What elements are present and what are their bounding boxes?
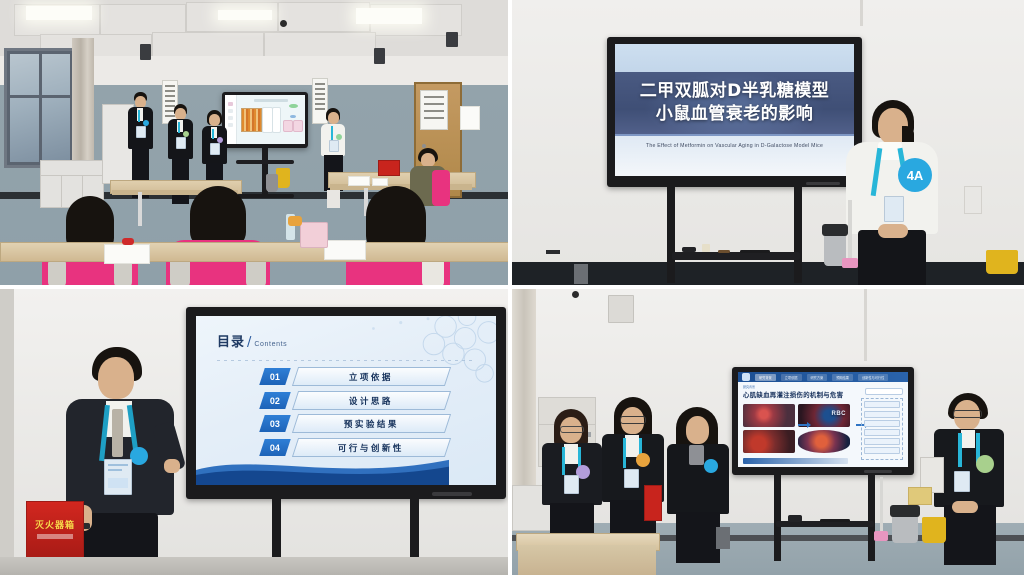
round-badge bbox=[130, 447, 148, 465]
slide-title-area: 二甲双胍对D半乳糖模型 小鼠血管衰老的影响 bbox=[615, 72, 854, 134]
ceiling-light bbox=[26, 6, 92, 20]
contents-item[interactable]: 03 预实验结果 bbox=[262, 415, 448, 432]
slide-top-band bbox=[615, 44, 854, 72]
collage-panel-top-right: 二甲双胍对D半乳糖模型 小鼠血管衰老的影响 The Effect of Metf… bbox=[512, 0, 1024, 285]
contents-divider bbox=[217, 360, 475, 361]
figure-label-rbc: RBC bbox=[832, 411, 847, 417]
slide-tab[interactable]: 立项依据 bbox=[781, 374, 802, 381]
trash-bag bbox=[822, 224, 848, 236]
group-presentation-scene: 研究背景 立项依据 研究方案 预期结果 创新性与可行性 研究背景 心肌缺血再灌注… bbox=[512, 289, 1024, 575]
mechanism-flow-chart bbox=[861, 398, 903, 459]
display-controls[interactable] bbox=[806, 182, 840, 185]
display-stand-shelf bbox=[672, 252, 800, 260]
stylus-pen[interactable] bbox=[740, 250, 770, 253]
presenter-scene-title: 二甲双胍对D半乳糖模型 小鼠血管衰老的影响 The Effect of Metf… bbox=[512, 0, 1024, 285]
student-presenter bbox=[540, 409, 604, 541]
round-badge bbox=[704, 459, 718, 473]
presenter-standing bbox=[318, 108, 348, 212]
wall-speaker bbox=[446, 32, 458, 47]
floor-strip bbox=[0, 557, 508, 575]
storage-box bbox=[908, 487, 932, 505]
slide-subtitle-en: The Effect of Metformin on Vascular Agin… bbox=[646, 143, 823, 149]
marker-pen[interactable] bbox=[718, 250, 730, 253]
flow-step bbox=[864, 429, 900, 436]
slide-tab[interactable]: 预期结果 bbox=[832, 374, 853, 381]
wall-poster bbox=[420, 90, 448, 130]
slide-tab[interactable]: 研究背景 bbox=[755, 374, 776, 381]
slide-tab[interactable]: 创新性与可行性 bbox=[858, 374, 888, 381]
window bbox=[4, 48, 76, 168]
bar-figure bbox=[272, 107, 281, 134]
floor-cable bbox=[546, 250, 560, 254]
slide-bottom-band: The Effect of Metformin on Vascular Agin… bbox=[615, 136, 854, 176]
interactive-display-wide[interactable] bbox=[222, 92, 308, 148]
slide-search-field[interactable] bbox=[865, 388, 903, 395]
hands-clasped bbox=[952, 501, 978, 513]
hands-clasped bbox=[878, 224, 908, 238]
presenter-title-slide: 4A bbox=[844, 100, 940, 285]
collage-panel-bottom-right: 研究背景 立项依据 研究方案 预期结果 创新性与可行性 研究背景 心肌缺血再灌注… bbox=[512, 289, 1024, 575]
interactive-display-contents[interactable]: 目录 / Contents 01 立项依据 02 bbox=[186, 307, 506, 499]
wall-socket bbox=[964, 186, 982, 214]
bar-figure bbox=[262, 107, 273, 134]
mop-handle bbox=[880, 477, 883, 535]
contents-heading-cn: 目录 bbox=[217, 331, 245, 350]
display-stand-post bbox=[774, 475, 781, 561]
flow-step bbox=[864, 420, 900, 427]
dashboard-slide bbox=[225, 95, 305, 144]
slide-footer-bar bbox=[743, 458, 848, 464]
node-green bbox=[289, 104, 298, 108]
flow-step bbox=[864, 438, 900, 445]
mop-head bbox=[874, 531, 888, 541]
foreground-table-top bbox=[518, 545, 656, 575]
slide-navigation-bar: 研究背景 立项依据 研究方案 预期结果 创新性与可行性 bbox=[738, 372, 908, 382]
slide-main-area bbox=[237, 95, 305, 144]
wall-speaker bbox=[608, 295, 634, 323]
contents-item-number: 01 bbox=[259, 368, 291, 385]
fruit bbox=[288, 216, 302, 226]
title-slide: 二甲双胍对D半乳糖模型 小鼠血管衰老的影响 The Effect of Metf… bbox=[615, 44, 854, 176]
judge-papers bbox=[348, 176, 370, 186]
fire-equipment-box bbox=[378, 160, 400, 176]
collage-panel-top-left bbox=[0, 0, 508, 285]
node-pink bbox=[283, 120, 292, 132]
flow-step bbox=[864, 447, 900, 454]
necktie bbox=[112, 409, 123, 457]
camera-on-shelf bbox=[788, 515, 802, 522]
tape-roll bbox=[702, 244, 710, 252]
wall-speaker bbox=[140, 44, 151, 60]
display-stand-post bbox=[794, 187, 802, 283]
trash-bag bbox=[890, 505, 920, 517]
waste-bin-yellow bbox=[922, 517, 946, 543]
flow-step bbox=[864, 401, 900, 408]
fire-extinguisher-box: 灭火器箱 bbox=[26, 501, 84, 559]
wall-skirting bbox=[512, 262, 1024, 285]
ceiling-pipe bbox=[860, 0, 863, 26]
wall-speaker bbox=[374, 48, 385, 64]
contents-item[interactable]: 01 立项依据 bbox=[262, 368, 448, 385]
content-slide: 研究背景 立项依据 研究方案 预期结果 创新性与可行性 研究背景 心肌缺血再灌注… bbox=[738, 372, 908, 467]
heatmap-figure bbox=[241, 108, 261, 133]
display-controls[interactable] bbox=[864, 470, 892, 473]
slide-title-line-2: 小鼠血管衰老的影响 bbox=[640, 103, 830, 125]
node-pink bbox=[293, 120, 302, 132]
slide-title-line-1: 二甲双胍对D半乳糖模型 bbox=[640, 80, 830, 102]
collage-panel-bottom-left: 目录 / Contents 01 立项依据 02 bbox=[0, 289, 508, 575]
waste-bin-yellow bbox=[276, 168, 290, 188]
id-badge bbox=[954, 471, 970, 492]
audience-member-back bbox=[166, 186, 270, 285]
node-blue bbox=[290, 115, 295, 118]
waste-bin-yellow bbox=[986, 250, 1018, 274]
classroom-scene-wide bbox=[0, 0, 508, 285]
badge-text: 4A bbox=[907, 168, 924, 183]
curtain bbox=[72, 38, 94, 164]
desk-item-red bbox=[122, 238, 134, 245]
round-badge bbox=[976, 455, 994, 473]
contents-slide: 目录 / Contents 01 立项依据 02 bbox=[196, 316, 496, 485]
id-badge bbox=[564, 475, 579, 494]
interactive-display-title[interactable]: 二甲双胍对D半乳糖模型 小鼠血管衰老的影响 The Effect of Metf… bbox=[607, 37, 862, 187]
id-badge bbox=[104, 459, 132, 495]
gesturing-hand bbox=[164, 459, 180, 473]
slide-figure-grid: RBC bbox=[743, 404, 850, 453]
photo-collage: 二甲双胍对D半乳糖模型 小鼠血管衰老的影响 The Effect of Metf… bbox=[0, 0, 1024, 575]
slide-body: 研究背景 心肌缺血再灌注损伤的机制与危害 RBC bbox=[738, 382, 908, 467]
display-stand-shelf bbox=[236, 160, 294, 164]
desk-paper bbox=[104, 244, 150, 264]
ceiling-light bbox=[218, 10, 272, 20]
display-stand-post bbox=[667, 187, 675, 283]
flow-step bbox=[864, 411, 900, 418]
contents-heading: 目录 / Contents bbox=[217, 331, 287, 350]
audience-desk bbox=[0, 242, 508, 262]
security-camera bbox=[280, 20, 287, 27]
student-presenter bbox=[600, 397, 666, 543]
gift-box bbox=[300, 222, 328, 248]
fire-box-label: 灭火器箱 bbox=[33, 518, 77, 531]
ceiling-pipe bbox=[864, 289, 867, 361]
figure-capillary bbox=[743, 430, 795, 453]
slide-logo-icon bbox=[742, 373, 750, 381]
interactive-display-content[interactable]: 研究背景 立项依据 研究方案 预期结果 创新性与可行性 研究背景 心肌缺血再灌注… bbox=[732, 367, 914, 475]
contents-heading-slash: / bbox=[247, 335, 252, 350]
wall-notice bbox=[460, 106, 480, 130]
contents-item-label: 设计思路 bbox=[292, 391, 451, 410]
stylus-pen[interactable] bbox=[820, 519, 850, 522]
slide-tab[interactable]: 研究方案 bbox=[807, 374, 828, 381]
id-badge bbox=[624, 469, 639, 488]
contents-item-number: 03 bbox=[259, 415, 291, 432]
flow-arrow bbox=[798, 424, 808, 426]
judge-papers bbox=[372, 178, 388, 186]
contents-item-label: 预实验结果 bbox=[292, 414, 451, 433]
display-controls[interactable] bbox=[432, 492, 472, 496]
remote-control[interactable] bbox=[682, 247, 696, 252]
ceiling-light bbox=[356, 8, 422, 24]
contents-heading-en: Contents bbox=[254, 341, 287, 348]
broom-bristles bbox=[716, 527, 730, 549]
eyeglasses bbox=[620, 416, 646, 424]
contents-item-number: 02 bbox=[259, 392, 291, 409]
figure-microscopy bbox=[798, 430, 850, 453]
audience-member-back bbox=[346, 186, 450, 285]
slide-wave-decoration bbox=[196, 448, 449, 485]
eyeglasses bbox=[953, 410, 982, 418]
eyeglasses bbox=[560, 426, 584, 433]
fire-extinguisher bbox=[644, 485, 662, 521]
presenter-scene-contents: 目录 / Contents 01 立项依据 02 bbox=[0, 289, 508, 575]
inner-top bbox=[689, 445, 704, 465]
mop-handle bbox=[848, 200, 852, 266]
slide-title-text: 二甲双胍对D半乳糖模型 小鼠血管衰老的影响 bbox=[640, 80, 830, 125]
figure-heart-vessel bbox=[743, 404, 795, 427]
security-camera bbox=[572, 291, 579, 298]
broom-bristles bbox=[574, 264, 588, 284]
round-badge bbox=[636, 453, 650, 467]
display-stand-post bbox=[868, 475, 875, 561]
contents-item-label: 立项依据 bbox=[292, 367, 451, 386]
contents-item[interactable]: 02 设计思路 bbox=[262, 392, 448, 409]
wall-edge bbox=[0, 289, 14, 575]
id-badge bbox=[884, 196, 904, 222]
desk-paper bbox=[324, 240, 366, 260]
mop-head bbox=[842, 258, 858, 268]
